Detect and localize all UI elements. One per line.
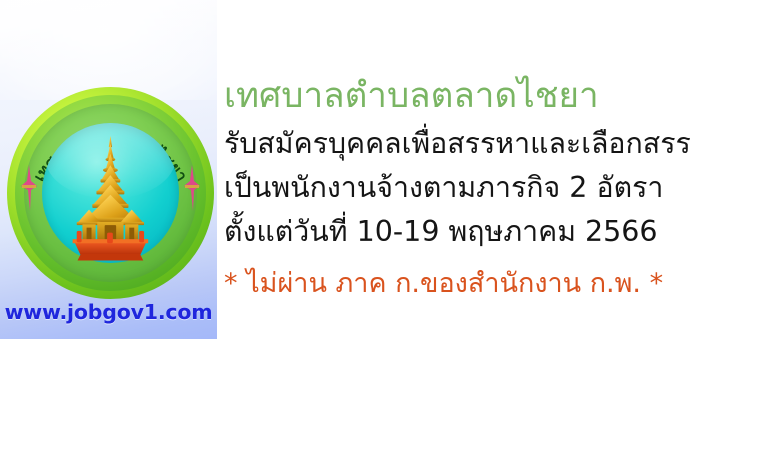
announcement-line-2: เป็นพนักงานจ้างตามภารกิจ 2 อัตรา xyxy=(224,166,764,210)
announcement-line-3: ตั้งแต่วันที่ 10-19 พฤษภาคม 2566 xyxy=(224,210,764,254)
panel-highlight xyxy=(0,0,217,100)
logo-panel: เทศบาลตำบลตลาดไชยา จังหวัดสุราษฎร์ธานี xyxy=(0,0,217,339)
flourish-right-icon xyxy=(184,165,200,211)
announcement-line-1: รับสมัครบุคคลเพื่อสรรหาและเลือกสรร xyxy=(224,122,764,166)
flourish-left-icon xyxy=(21,165,37,211)
job-announcement-poster: เทศบาลตำบลตลาดไชยา จังหวัดสุราษฎร์ธานี xyxy=(0,0,770,450)
golden-pagoda-icon xyxy=(69,134,152,265)
announcement-text-block: เทศบาลตำบลตลาดไชยา รับสมัครบุคคลเพื่อสรร… xyxy=(224,72,764,306)
municipality-seal: เทศบาลตำบลตลาดไชยา จังหวัดสุราษฎร์ธานี xyxy=(7,87,214,299)
page-title: เทศบาลตำบลตลาดไชยา xyxy=(224,72,764,120)
announcement-note: * ไม่ผ่าน ภาค ก.ของสำนักงาน ก.พ. * xyxy=(224,262,764,306)
website-url[interactable]: www.jobgov1.com xyxy=(0,300,217,324)
